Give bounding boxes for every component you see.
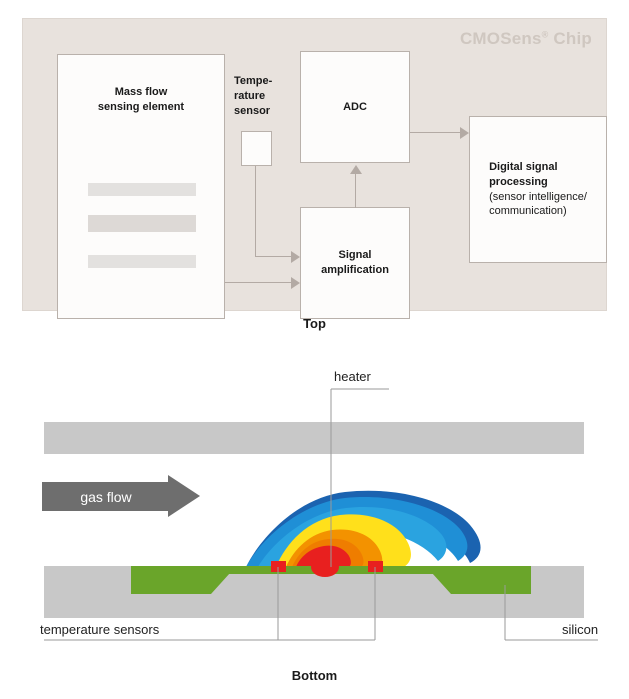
block-temperature-sensor bbox=[241, 131, 272, 166]
arrow-temp-to-amp bbox=[291, 251, 300, 263]
dsp-line1: Digital signal bbox=[489, 161, 557, 173]
sensing-element-bar-3 bbox=[88, 255, 196, 268]
block-signal-amplification-label: Signal amplification bbox=[321, 248, 389, 278]
arrow-massflow-to-amp bbox=[291, 277, 300, 289]
dsp-line2: processing bbox=[489, 176, 548, 188]
connector-massflow-to-amp bbox=[225, 282, 291, 283]
block-adc: ADC bbox=[300, 51, 410, 163]
dsp-line4: communication) bbox=[489, 205, 567, 217]
bottom-cross-section-diagram: gas flow heater temperature sensors sili… bbox=[0, 345, 629, 699]
sensing-element-bar-2 bbox=[88, 215, 196, 232]
chip-title-suffix: Chip bbox=[549, 29, 593, 48]
amp-line2: amplification bbox=[321, 264, 389, 276]
mass-flow-line2: sensing element bbox=[98, 101, 184, 113]
amp-line1: Signal bbox=[338, 249, 371, 261]
heater-label: heater bbox=[334, 369, 371, 384]
sensing-element-bar-1 bbox=[88, 183, 196, 196]
caption-top: Top bbox=[0, 316, 629, 331]
cmosens-chip-panel: CMOSens® Chip Mass flow sensing element … bbox=[22, 18, 607, 311]
temp-line2: rature bbox=[234, 90, 265, 102]
silicon-label: silicon bbox=[562, 622, 598, 637]
block-mass-flow-label: Mass flow sensing element bbox=[58, 85, 224, 115]
heater-element bbox=[311, 557, 339, 577]
arrow-adc-to-dsp bbox=[460, 127, 469, 139]
arrow-amp-to-adc bbox=[350, 165, 362, 174]
block-signal-amplification: Signal amplification bbox=[300, 207, 410, 319]
top-block-diagram: CMOSens® Chip Mass flow sensing element … bbox=[0, 0, 629, 345]
block-temperature-sensor-label: Tempe- rature sensor bbox=[234, 74, 290, 119]
mass-flow-line1: Mass flow bbox=[115, 86, 168, 98]
connector-amp-to-adc bbox=[355, 174, 356, 208]
caption-bottom: Bottom bbox=[0, 668, 629, 683]
connector-adc-to-dsp bbox=[410, 132, 460, 133]
temperature-sensors-label: temperature sensors bbox=[40, 622, 159, 637]
chip-title-main: CMOSens bbox=[460, 29, 542, 48]
dsp-line3: (sensor intelligence/ bbox=[489, 191, 587, 203]
connector-temp-to-amp-vertical bbox=[255, 166, 256, 257]
silicon-chip-and-thermal-plume bbox=[0, 345, 629, 699]
chip-title: CMOSens® Chip bbox=[460, 29, 592, 49]
temp-line1: Tempe- bbox=[234, 75, 272, 87]
block-mass-flow-sensing-element: Mass flow sensing element bbox=[57, 54, 225, 319]
block-dsp-label: Digital signal processing (sensor intell… bbox=[477, 160, 599, 219]
block-adc-label: ADC bbox=[343, 100, 367, 115]
block-digital-signal-processing: Digital signal processing (sensor intell… bbox=[469, 116, 607, 263]
temp-line3: sensor bbox=[234, 105, 270, 117]
connector-temp-to-amp-horizontal bbox=[255, 256, 291, 257]
registered-trademark-icon: ® bbox=[542, 29, 549, 39]
